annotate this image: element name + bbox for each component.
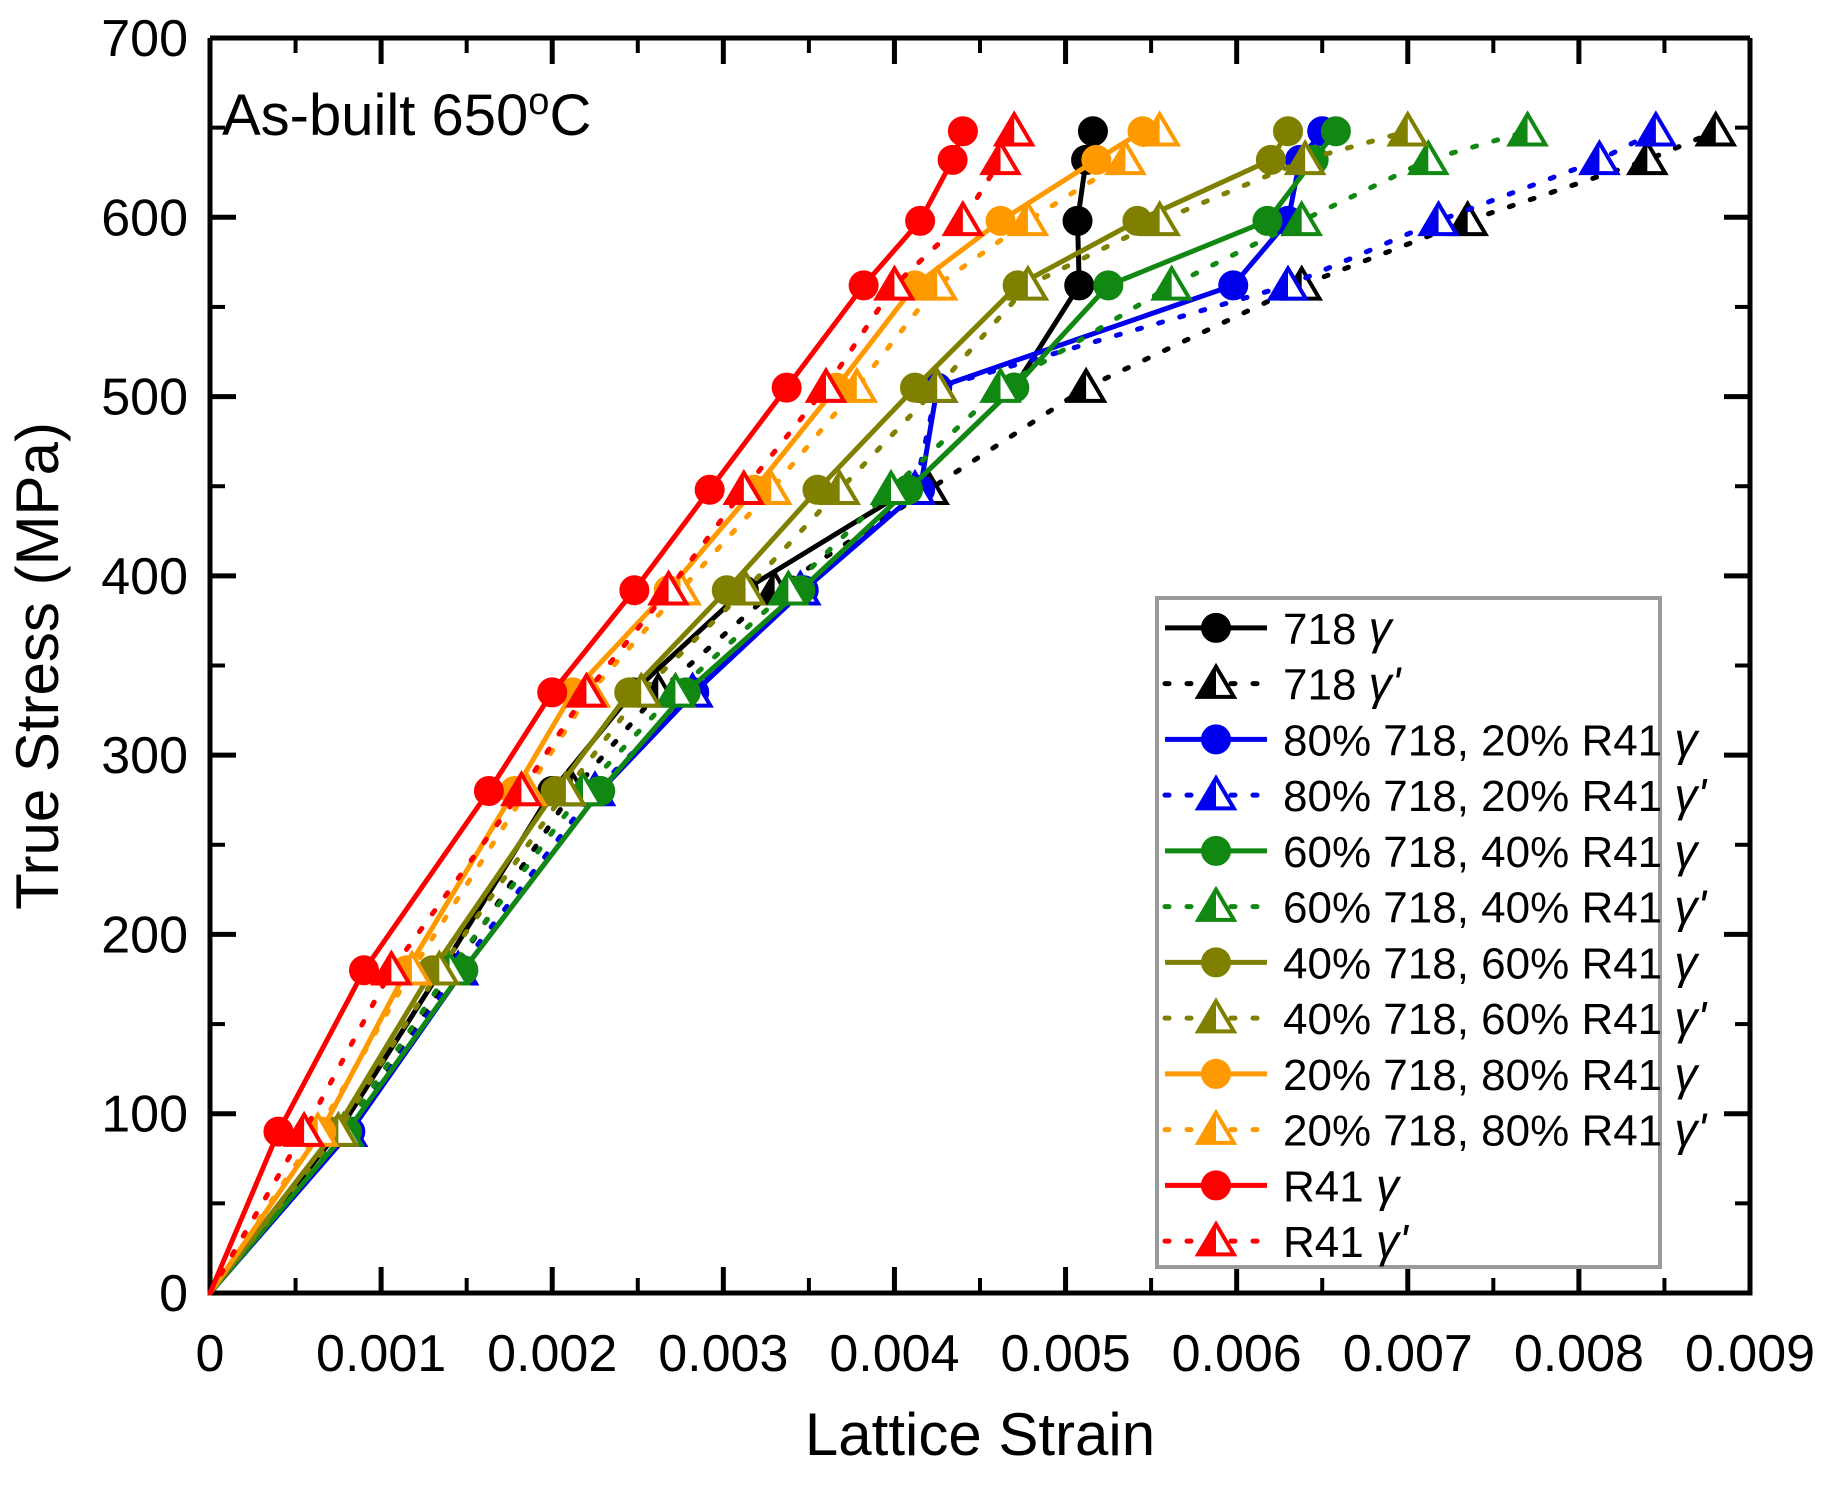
data-point [1219,271,1247,299]
data-point [696,476,724,504]
legend-swatch-marker [1202,614,1230,642]
data-point [773,374,801,402]
x-tick-label: 0.002 [487,1325,617,1383]
y-tick-label: 0 [159,1265,188,1323]
x-tick-label: 0.003 [658,1325,788,1383]
data-point [939,146,967,174]
legend-swatch-marker [1202,1171,1230,1199]
y-tick-label: 500 [101,369,188,427]
data-point [1079,117,1107,145]
data-point [1094,271,1122,299]
data-point [949,117,977,145]
y-tick-label: 400 [101,548,188,606]
legend-item-label: 80% 718, 20% R41 γ [1283,713,1700,765]
data-point [1064,207,1092,235]
x-tick-label: 0 [196,1325,225,1383]
y-tick-label: 200 [101,906,188,964]
data-point [1274,117,1302,145]
series-path [210,131,1288,1293]
data-point [1257,146,1285,174]
y-tick-label: 600 [101,189,188,247]
data-point [906,207,934,235]
data-point [850,271,878,299]
y-tick-label: 700 [101,10,188,68]
legend-swatch-marker [1202,837,1230,865]
legend-item-label: 40% 718, 60% R41 γ' [1283,992,1708,1044]
chart-annotation: As-built 650oC [222,81,591,148]
y-tick-label: 300 [101,727,188,785]
legend-swatch-marker [1202,948,1230,976]
y-axis-title: True Stress (MPa) [4,422,71,910]
x-tick-label: 0.009 [1685,1325,1815,1383]
data-point [620,576,648,604]
legend-item-label: 718 γ [1283,602,1395,654]
legend-swatch-marker [1202,1060,1230,1088]
y-tick-label: 100 [101,1086,188,1144]
legend-item-label: R41 γ [1283,1159,1402,1211]
chart-legend[interactable]: 718 γ718 γ'80% 718, 20% R41 γ80% 718, 20… [1157,598,1708,1267]
data-point [1322,117,1350,145]
x-axis-title: Lattice Strain [805,1401,1155,1468]
data-point [538,678,566,706]
x-tick-label: 0.005 [1000,1325,1130,1383]
legend-swatch-marker [1202,725,1230,753]
data-point [1065,271,1093,299]
x-tick-label: 0.008 [1514,1325,1644,1383]
series-6 [210,117,1302,1293]
data-point [1253,207,1281,235]
legend-item-label: 20% 718, 80% R41 γ [1283,1048,1700,1100]
x-tick-label: 0.001 [316,1325,446,1383]
x-tick-label: 0.006 [1172,1325,1302,1383]
legend-item-label: 60% 718, 40% R41 γ' [1283,881,1708,933]
x-tick-label: 0.007 [1343,1325,1473,1383]
legend-item-label: R41 γ' [1283,1215,1410,1267]
x-tick-label: 0.004 [829,1325,959,1383]
legend-item-label: 20% 718, 80% R41 γ' [1283,1104,1708,1156]
data-point [475,777,503,805]
legend-item-label: 40% 718, 60% R41 γ [1283,936,1700,988]
lattice-strain-chart: As-built 650oC 00.0010.0020.0030.0040.00… [0,0,1834,1496]
legend-item-label: 80% 718, 20% R41 γ' [1283,769,1708,821]
legend-item-label: 60% 718, 40% R41 γ [1283,825,1700,877]
legend-item-label: 718 γ' [1283,658,1403,710]
chart-page: As-built 650oC 00.0010.0020.0030.0040.00… [0,0,1834,1496]
